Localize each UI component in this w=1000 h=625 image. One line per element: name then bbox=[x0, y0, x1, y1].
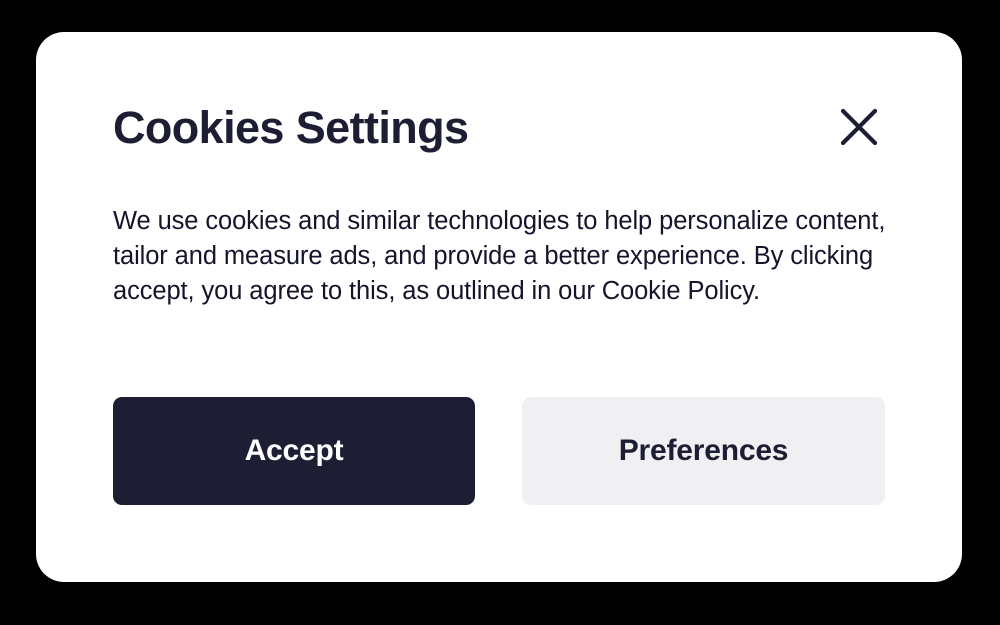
screen-root: Cookies Settings We use cookies and simi… bbox=[0, 0, 1000, 625]
accept-button[interactable]: Accept bbox=[113, 397, 475, 505]
dialog-actions: Accept Preferences bbox=[113, 397, 885, 505]
dialog-title: Cookies Settings bbox=[113, 105, 468, 150]
close-dialog-button[interactable] bbox=[832, 100, 886, 154]
dialog-description: We use cookies and similar technologies … bbox=[113, 204, 903, 309]
dialog-body: We use cookies and similar technologies … bbox=[113, 204, 903, 309]
close-x-icon bbox=[839, 107, 879, 147]
cookie-settings-dialog: Cookies Settings We use cookies and simi… bbox=[36, 32, 962, 582]
dialog-header: Cookies Settings bbox=[36, 32, 962, 172]
preferences-button[interactable]: Preferences bbox=[522, 397, 885, 505]
